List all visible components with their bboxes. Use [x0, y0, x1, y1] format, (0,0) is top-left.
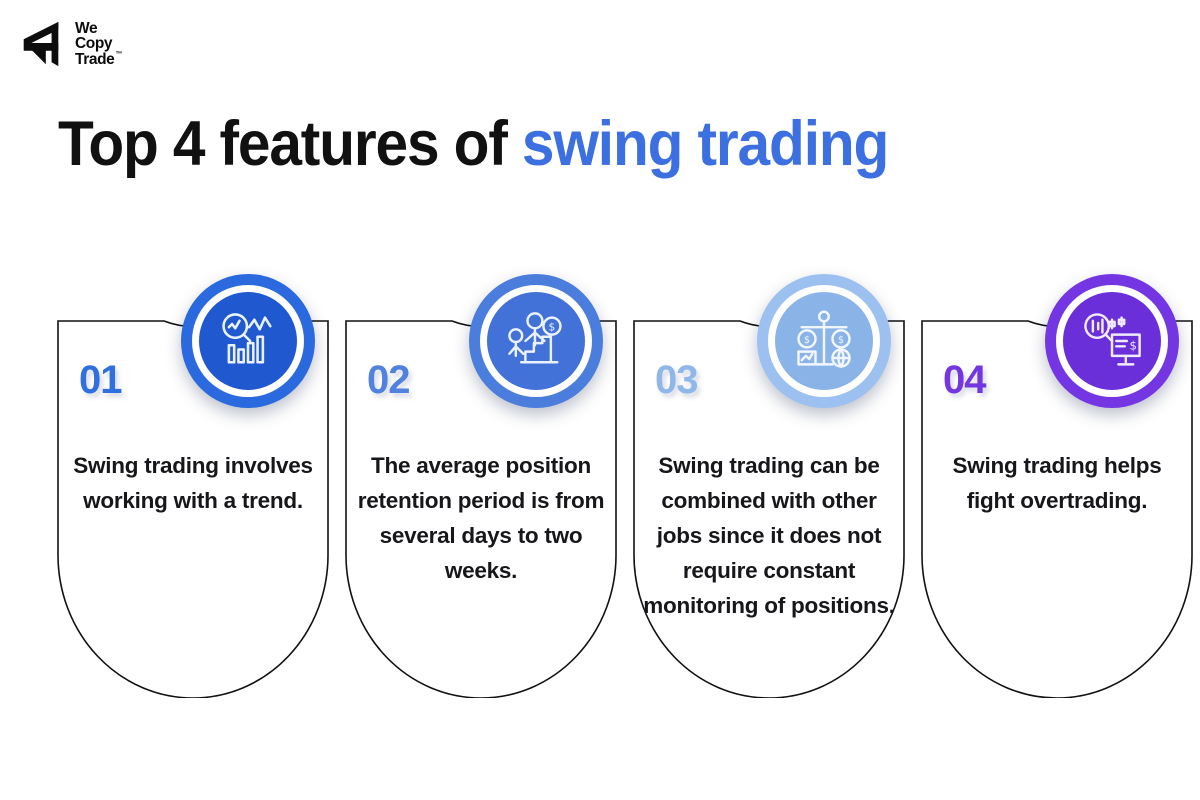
- card-badge-ring-3: $ $: [757, 274, 891, 408]
- card-badge-inner-3: $ $: [768, 285, 880, 397]
- card-badge-inner-1: [192, 285, 304, 397]
- feature-card-2[interactable]: 02 The average position retention period…: [345, 320, 617, 698]
- card-badge-ring-1: [181, 274, 315, 408]
- card-badge-inner-2: $: [480, 285, 592, 397]
- feature-card-1[interactable]: 01 Swing trading involves working with a…: [57, 320, 329, 698]
- svg-text:$: $: [838, 335, 844, 346]
- svg-text:$: $: [549, 320, 556, 333]
- card-text-3: Swing trading can be combined with other…: [643, 448, 895, 623]
- magnifier-bar-chart-icon: [214, 307, 282, 375]
- card-text-1: Swing trading involves working with a tr…: [67, 448, 319, 518]
- card-text-4: Swing trading helps fight overtrading.: [931, 448, 1183, 518]
- balance-scales-money-icon: $ $: [790, 307, 858, 375]
- card-number-4: 04: [943, 358, 986, 403]
- card-badge-3: $ $: [741, 258, 907, 424]
- investor-growth-chart-icon: $: [502, 307, 570, 375]
- card-number-1: 01: [79, 358, 122, 403]
- monitor-magnifier-analysis-icon: $: [1078, 307, 1146, 375]
- card-badge-ring-2: $: [469, 274, 603, 408]
- card-badge-1: [165, 258, 331, 424]
- card-text-2: The average position retention period is…: [355, 448, 607, 588]
- feature-card-list: 01 Swing trading involves working with a…: [0, 0, 1200, 800]
- card-number-3: 03: [655, 358, 698, 403]
- feature-card-3[interactable]: 03 Swing trading can be combined with ot…: [633, 320, 905, 698]
- svg-text:$: $: [804, 335, 810, 346]
- card-badge-4: $: [1029, 258, 1195, 424]
- card-badge-2: $: [453, 258, 619, 424]
- card-badge-ring-4: $: [1045, 274, 1179, 408]
- card-number-2: 02: [367, 358, 410, 403]
- feature-card-4[interactable]: 04 Swing trading helps fight overtrading…: [921, 320, 1193, 698]
- svg-text:$: $: [1130, 339, 1137, 353]
- card-badge-inner-4: $: [1056, 285, 1168, 397]
